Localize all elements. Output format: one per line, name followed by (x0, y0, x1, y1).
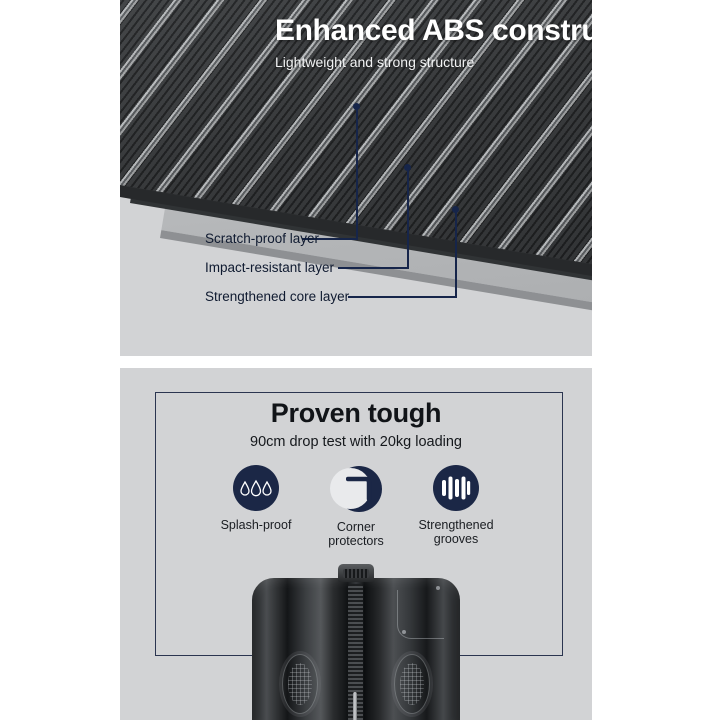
groove-mesh-left (288, 663, 312, 705)
suitcase-corner-protector (397, 590, 444, 639)
corner-bracket-shape (346, 475, 374, 501)
callout-line-impact-vertical (407, 168, 409, 267)
infographic-stage: Enhanced ABS construction Lightweight an… (0, 0, 720, 720)
suitcase-groove-left (282, 654, 318, 714)
corner-protector-icon (330, 465, 382, 513)
feature-caption-strengthened-grooves: Strengthened grooves (418, 518, 493, 546)
panel1-title: Enhanced ABS construction (275, 14, 592, 48)
groove-mesh-right (400, 663, 424, 705)
feature-strengthened-grooves: Strengthened grooves (413, 465, 499, 546)
suitcase-image (252, 564, 460, 720)
panel1-subtitle: Lightweight and strong structure (275, 54, 474, 70)
callout-line-scratch-vertical (356, 107, 358, 238)
corner-screw-bottom (402, 630, 406, 634)
callout-label-core: Strengthened core layer (205, 289, 349, 304)
callout-line-core-horizontal (348, 296, 457, 298)
corner-screw-top (436, 586, 440, 590)
grooves-icon (433, 465, 479, 511)
tsa-lock (338, 564, 374, 582)
panel2-subtitle: 90cm drop test with 20kg loading (120, 434, 592, 450)
callout-label-scratch: Scratch-proof layer (205, 231, 319, 246)
water-drops-icon (233, 465, 279, 511)
panel2-title: Proven tough (120, 398, 592, 429)
callout-line-core-vertical (455, 210, 457, 296)
feature-icon-row: Splash-proof Corner protectors (120, 465, 592, 548)
proven-tough-panel: Proven tough 90cm drop test with 20kg lo… (120, 368, 592, 720)
feature-splash-proof: Splash-proof (213, 465, 299, 532)
callout-label-impact: Impact-resistant layer (205, 260, 334, 275)
suitcase-zipper-pull (353, 692, 357, 720)
feature-caption-corner-protectors: Corner protectors (328, 520, 384, 548)
abs-construction-panel: Enhanced ABS construction Lightweight an… (120, 0, 592, 356)
feature-corner-protectors: Corner protectors (313, 465, 399, 548)
suitcase-groove-right (394, 654, 430, 714)
callout-line-impact-horizontal (338, 267, 409, 269)
tsa-lock-dial (343, 569, 369, 578)
feature-caption-splash-proof: Splash-proof (221, 518, 292, 532)
